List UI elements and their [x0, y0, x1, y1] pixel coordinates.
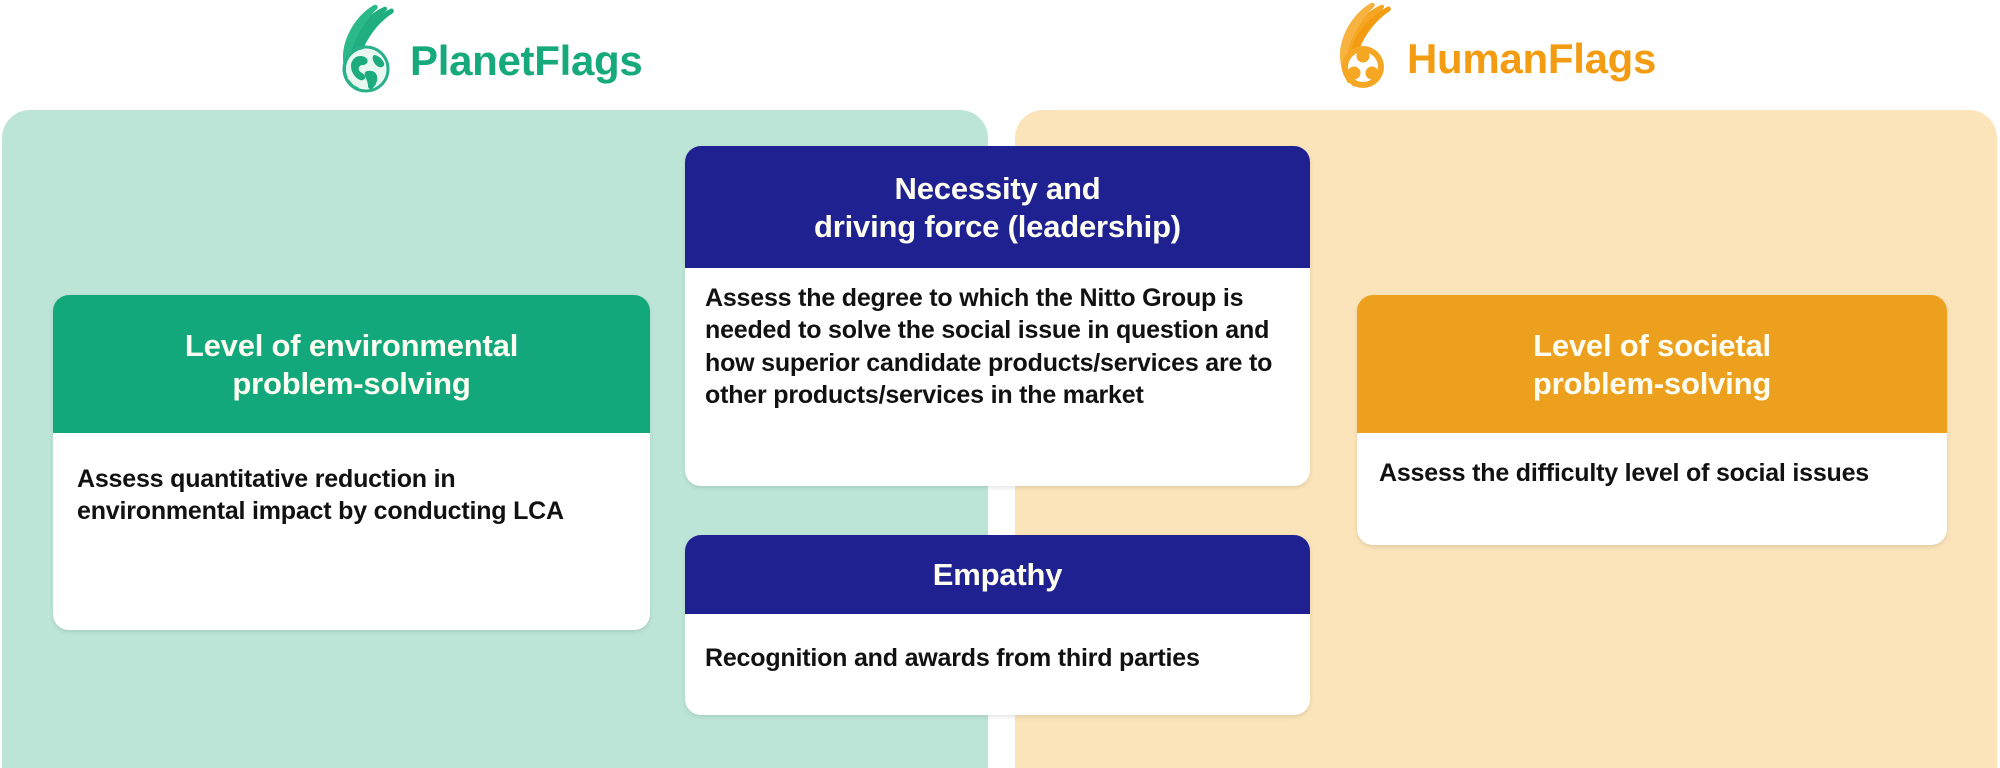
- humanflags-logo: HumanFlags: [1327, 0, 1656, 92]
- leaf-globe-icon: [330, 3, 404, 93]
- card-header-environmental: Level of environmental problem-solving: [53, 295, 650, 433]
- diagram-canvas: PlanetFlags HumanFlags Level of environm…: [0, 0, 2000, 768]
- card-title-line-2: problem-solving: [1533, 366, 1771, 401]
- humanflags-wordmark: HumanFlags: [1407, 12, 1656, 80]
- card-header-necessity: Necessity and driving force (leadership): [685, 146, 1310, 268]
- card-necessity-driving-force[interactable]: Necessity and driving force (leadership)…: [685, 146, 1310, 486]
- card-title-line-2: driving force (leadership): [814, 209, 1181, 244]
- card-environmental-problem-solving[interactable]: Level of environmental problem-solving A…: [53, 295, 650, 630]
- card-title-line-1: Necessity and: [895, 171, 1101, 206]
- card-societal-problem-solving[interactable]: Level of societal problem-solving Assess…: [1357, 295, 1947, 545]
- card-header-societal: Level of societal problem-solving: [1357, 295, 1947, 433]
- card-body-societal: Assess the difficulty level of social is…: [1357, 433, 1947, 490]
- planetflags-logo: PlanetFlags: [330, 2, 642, 94]
- card-header-empathy: Empathy: [685, 535, 1310, 614]
- card-title-line-1: Level of societal: [1533, 328, 1771, 363]
- card-body-environmental: Assess quantitative reduction in environ…: [53, 433, 650, 528]
- card-title-line-1: Empathy: [933, 557, 1063, 592]
- planetflags-wordmark: PlanetFlags: [410, 14, 642, 82]
- card-body-empathy: Recognition and awards from third partie…: [685, 614, 1310, 675]
- card-body-necessity: Assess the degree to which the Nitto Gro…: [685, 268, 1310, 412]
- card-title-line-2: problem-solving: [232, 366, 470, 401]
- card-title-line-1: Level of environmental: [185, 328, 518, 363]
- flame-people-icon: [1327, 1, 1401, 91]
- card-empathy[interactable]: Empathy Recognition and awards from thir…: [685, 535, 1310, 715]
